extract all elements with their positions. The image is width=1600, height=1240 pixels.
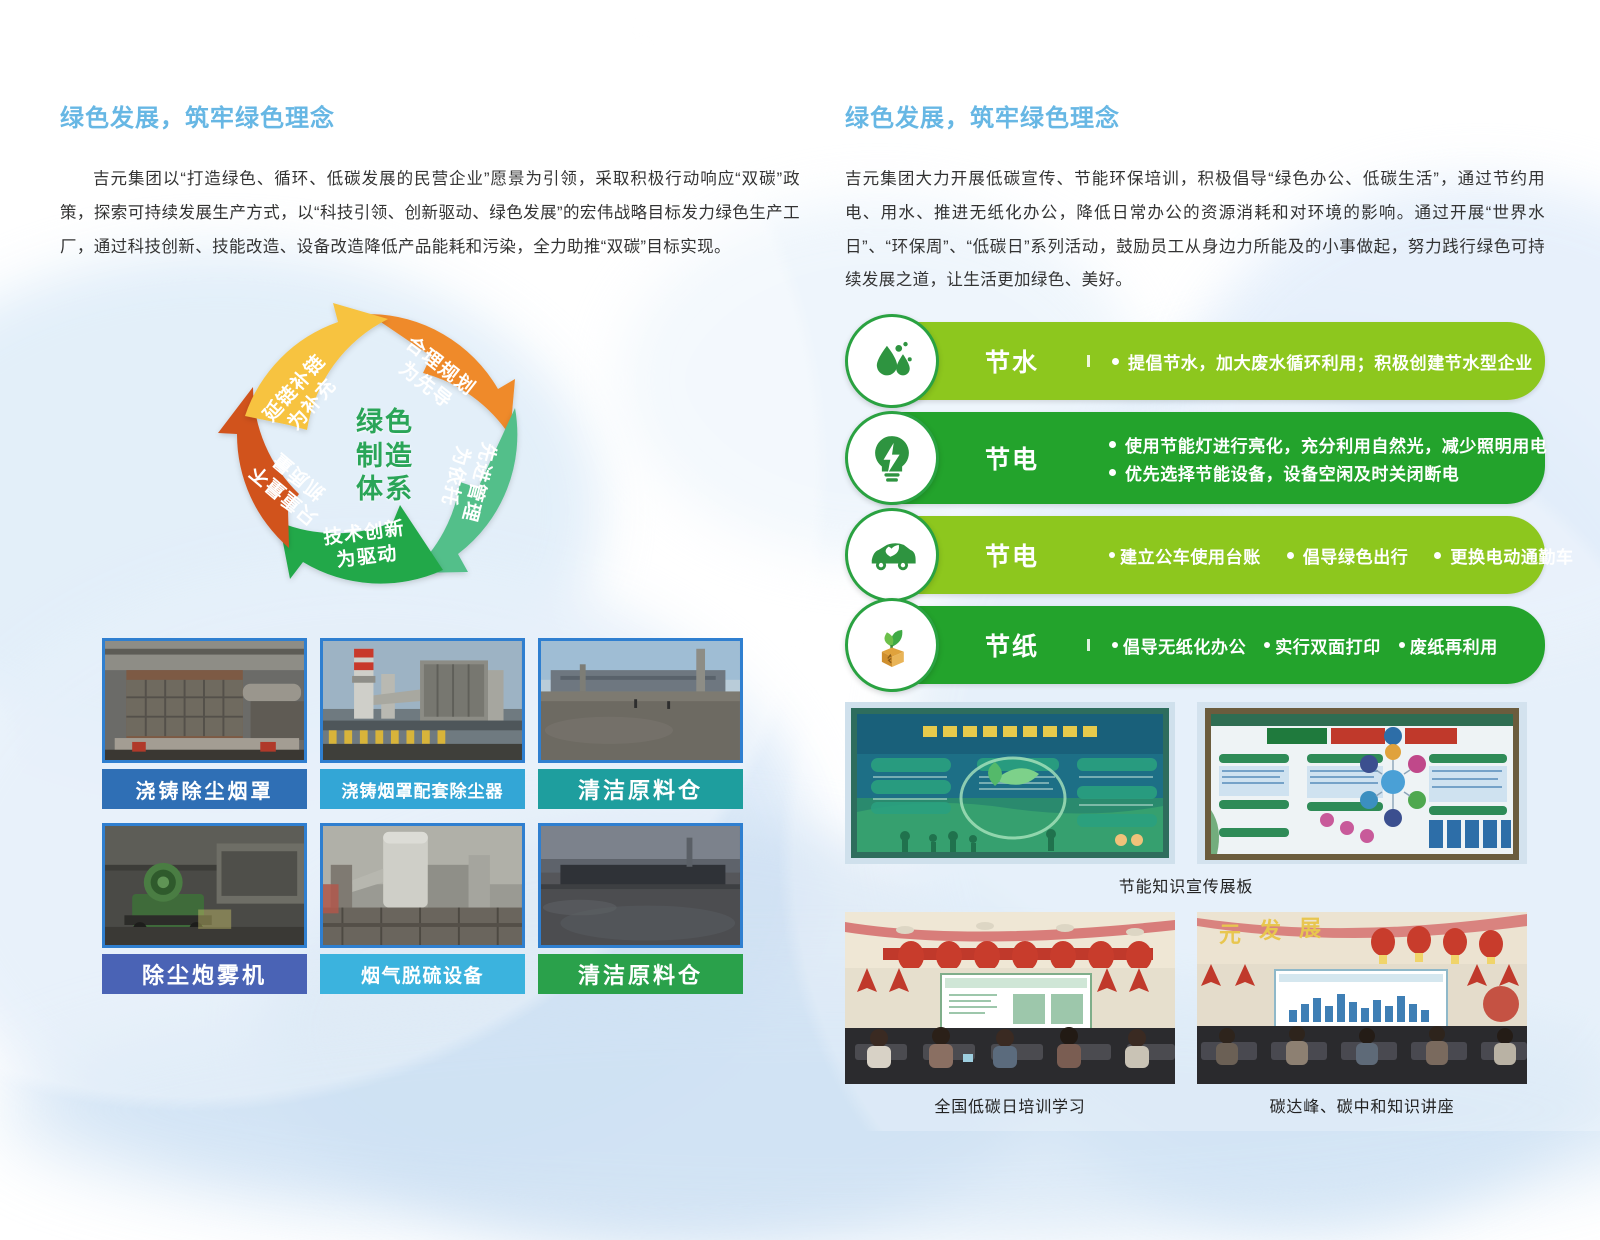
measure-item: 提倡节水，加大废水循环利用；积极创建节水型企业 (1112, 349, 1533, 374)
photo-card-yard-day[interactable]: 清洁原料仓 (538, 638, 743, 809)
photo-card-board-green-water[interactable] (845, 702, 1175, 864)
measure-row-electricity[interactable]: 节电 使用节能灯进行亮化，充分利用自然光，减少照明用电 优先选择节能设备，设备空… (845, 412, 1545, 504)
photo-training-right: 元发展 (1197, 912, 1527, 1084)
right-photos-top (845, 702, 1545, 864)
cycle-center-label: 绿色 制造 体系 (356, 406, 414, 506)
measure-row-paper[interactable]: 节纸 倡导无纸化办公 实行双面打印 废纸 (845, 606, 1545, 684)
divider (1087, 355, 1090, 367)
photo-caption: 浇铸烟罩配套除尘器 (320, 769, 525, 809)
measure-row-water[interactable]: 节水 提倡节水，加大废水循环利用；积极创建节水型企业 (845, 322, 1545, 400)
right-column: 绿色发展，筑牢绿色理念 吉元集团大力开展低碳宣传、节能环保培训，积极倡导“绿色办… (845, 0, 1545, 1117)
measure-item: 倡导无纸化办公 (1112, 633, 1246, 658)
right-photos-bottom: 全国低碳日培训学习 元发展 (845, 912, 1545, 1117)
sprout-box-icon (845, 598, 939, 692)
photo-caption: 除尘炮雾机 (102, 954, 307, 994)
green-manufacturing-cycle-diagram: 合理规划 为先导 先进管理 为依托 技术创新 为驱动 只重量不 抓质量 延链补链 (215, 296, 555, 616)
measure-item: 废纸再利用 (1399, 633, 1498, 658)
photo-foundry-hood (102, 638, 307, 763)
photo-training-left (845, 912, 1175, 1084)
left-paragraph: 吉元集团以“打造绿色、循环、低碳发展的民营企业”愿景为引领，采取积极行动响应“双… (60, 163, 800, 264)
water-drops-icon (845, 314, 939, 408)
photo-card-training-left[interactable]: 全国低碳日培训学习 (845, 912, 1175, 1117)
photo-caption: 浇铸除尘烟罩 (102, 769, 307, 809)
photo-card-training-right[interactable]: 元发展 (1197, 912, 1527, 1117)
left-photo-grid: 浇铸除尘烟罩 (102, 638, 800, 994)
photo-caption: 全国低碳日培训学习 (845, 1093, 1175, 1117)
photo-caption: 碳达峰、碳中和知识讲座 (1197, 1093, 1527, 1117)
svg-text:发: 发 (1258, 918, 1282, 943)
photo-caption: 清洁原料仓 (538, 954, 743, 994)
energy-saving-measures: 节水 提倡节水，加大废水循环利用；积极创建节水型企业 (845, 322, 1545, 684)
photo-card-dust-collector[interactable]: 浇铸烟罩配套除尘器 (320, 638, 525, 809)
measure-item: 更换电动通勤车 (1434, 543, 1573, 568)
photo-dust-collector (320, 638, 525, 763)
photo-caption: 烟气脱硫设备 (320, 954, 525, 994)
photo-card-foundry-hood[interactable]: 浇铸除尘烟罩 (102, 638, 307, 809)
measure-title: 节电 (985, 440, 1073, 476)
measure-row-transport[interactable]: 节电 建立公车使用台账 倡导绿色出行 更 (845, 516, 1545, 594)
photo-card-fog-cannon[interactable]: 除尘炮雾机 (102, 823, 307, 994)
photo-fog-cannon (102, 823, 307, 948)
svg-text:展: 展 (1299, 916, 1321, 941)
photo-board-green-water (845, 702, 1175, 864)
photo-desulfurization (320, 823, 525, 948)
photo-card-board-carbon[interactable] (1197, 702, 1527, 864)
measure-item: 倡导绿色出行 (1287, 543, 1409, 568)
measure-item: 实行双面打印 (1264, 633, 1381, 658)
photo-yard-day (538, 638, 743, 763)
photo-card-desulfurization[interactable]: 烟气脱硫设备 (320, 823, 525, 994)
divider (1087, 639, 1090, 651)
measure-title: 节水 (985, 343, 1073, 379)
lightbulb-icon (845, 411, 939, 505)
measure-item: 建立公车使用台账 (1109, 543, 1261, 568)
caption-boards: 节能知识宣传展板 (1021, 873, 1351, 897)
left-section-title: 绿色发展，筑牢绿色理念 (60, 98, 800, 133)
left-column: 绿色发展，筑牢绿色理念 吉元集团以“打造绿色、循环、低碳发展的民营企业”愿景为引… (60, 0, 800, 994)
photo-caption: 清洁原料仓 (538, 769, 743, 809)
measure-title: 节电 (985, 537, 1073, 573)
photo-board-carbon (1197, 702, 1527, 864)
photo-yard-dusk (538, 823, 743, 948)
right-section-title: 绿色发展，筑牢绿色理念 (845, 98, 1545, 133)
right-paragraph: 吉元集团大力开展低碳宣传、节能环保培训，积极倡导“绿色办公、低碳生活”，通过节约… (845, 163, 1545, 298)
eco-car-icon (845, 508, 939, 602)
svg-text:元: 元 (1219, 922, 1241, 947)
measure-item: 优先选择节能设备，设备空闲及时关闭断电 (1109, 460, 1547, 485)
measure-title: 节纸 (985, 627, 1073, 663)
measure-item: 使用节能灯进行亮化，充分利用自然光，减少照明用电 (1109, 432, 1547, 457)
photo-card-yard-dusk[interactable]: 清洁原料仓 (538, 823, 743, 994)
